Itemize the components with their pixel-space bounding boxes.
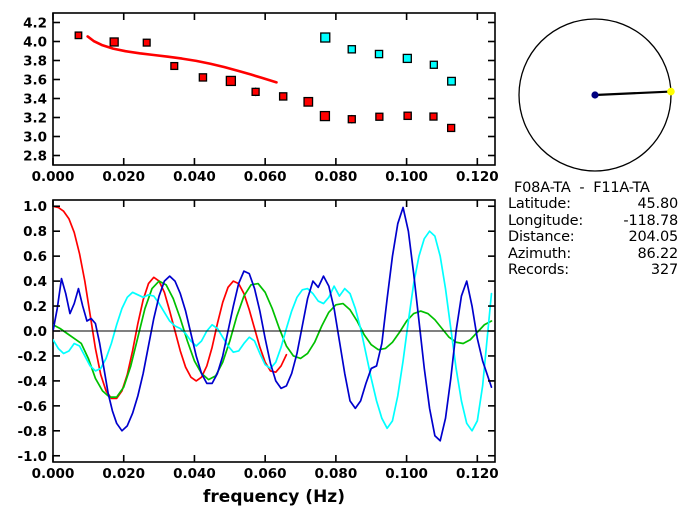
y-tick-label: 1.0 <box>23 199 47 215</box>
plot-area <box>75 32 455 131</box>
y-tick-label: -0.4 <box>17 374 47 390</box>
y-tick-label: 0.8 <box>23 224 47 240</box>
x-tick-label: 0.020 <box>102 169 145 185</box>
station-pair-label: F08A-TA - F11A-TA <box>508 180 698 196</box>
info-value: 86.22 <box>596 246 678 262</box>
data-point-marker <box>143 39 150 46</box>
data-point-marker <box>375 50 382 57</box>
cross-correlation-plot: 0.0000.0200.0400.0600.0800.1000.120-1.0-… <box>0 190 510 519</box>
y-tick-label: 2.8 <box>23 149 47 165</box>
info-value: 204.05 <box>596 229 678 245</box>
dispersion-plot: 0.0000.0200.0400.0600.0800.1000.1202.83.… <box>0 0 510 195</box>
series-red-branch <box>75 32 454 131</box>
paired-station-dot <box>667 88 675 96</box>
x-tick-label: 0.060 <box>244 169 287 185</box>
info-row: Azimuth:86.22 <box>508 246 698 262</box>
x-tick-label: 0.040 <box>173 169 216 185</box>
y-tick-label: 3.8 <box>23 54 47 70</box>
info-key: Latitude: <box>508 196 596 212</box>
data-point-marker <box>404 112 411 119</box>
x-tick-label: 0.100 <box>385 169 428 185</box>
data-point-marker <box>448 124 455 131</box>
data-point-marker <box>348 116 355 123</box>
info-row: Longitude:-118.78 <box>508 213 698 229</box>
y-tick-label: 3.0 <box>23 130 47 146</box>
data-point-marker <box>252 88 259 95</box>
info-row: Distance:204.05 <box>508 229 698 245</box>
y-tick-label: 0.4 <box>23 274 47 290</box>
series-cyan-branch <box>321 33 456 85</box>
info-key: Longitude: <box>508 213 596 229</box>
y-tick-label: 4.2 <box>23 16 47 32</box>
y-tick-label: 3.4 <box>23 92 47 108</box>
x-tick-label: 0.020 <box>102 466 145 482</box>
data-point-marker <box>430 113 437 120</box>
x-tick-label: 0.080 <box>315 169 358 185</box>
data-point-marker <box>280 93 287 100</box>
data-point-marker <box>348 46 355 53</box>
x-tick-label: 0.080 <box>315 466 358 482</box>
y-tick-label: 4.0 <box>23 35 47 51</box>
y-tick-label: -1.0 <box>17 449 47 465</box>
data-point-marker <box>75 32 82 39</box>
data-point-marker <box>304 98 313 107</box>
station-path <box>595 92 671 95</box>
info-row: Records:327 <box>508 262 698 278</box>
x-tick-label: 0.040 <box>173 466 216 482</box>
x-tick-label: 0.060 <box>244 466 287 482</box>
phase-velocity-dispersion-figure: 0.0000.0200.0400.0600.0800.1000.1202.83.… <box>0 0 700 519</box>
data-point-marker <box>321 33 330 42</box>
y-tick-label: -0.6 <box>17 399 47 415</box>
plot-area <box>53 206 491 441</box>
y-tick-label: -0.2 <box>17 349 47 365</box>
info-key: Azimuth: <box>508 246 596 262</box>
data-point-marker <box>448 77 456 85</box>
info-key: Records: <box>508 262 596 278</box>
info-key: Distance: <box>508 229 596 245</box>
station-info-panel: F08A-TA - F11A-TA Latitude:45.80Longitud… <box>508 180 698 278</box>
data-point-marker <box>376 113 383 120</box>
y-tick-label: 0.0 <box>23 324 47 340</box>
info-value: 45.80 <box>596 196 678 212</box>
y-tick-label: 0.2 <box>23 299 47 315</box>
y-tick-label: 0.6 <box>23 249 47 265</box>
info-value: 327 <box>596 262 678 278</box>
data-point-marker <box>320 112 329 121</box>
x-tick-label: 0.000 <box>32 466 75 482</box>
data-point-marker <box>110 38 118 46</box>
data-point-marker <box>430 61 437 68</box>
data-point-marker <box>199 74 206 81</box>
data-point-marker <box>403 54 411 62</box>
data-point-marker <box>171 63 178 70</box>
info-row: Latitude:45.80 <box>508 196 698 212</box>
reference-station-dot <box>591 91 598 98</box>
station-pair-map <box>505 8 695 188</box>
x-tick-label: 0.120 <box>456 466 499 482</box>
x-tick-label: 0.120 <box>456 169 499 185</box>
station-info-rows: Latitude:45.80Longitude:-118.78Distance:… <box>508 196 698 278</box>
y-tick-label: -0.8 <box>17 424 47 440</box>
series-red-trace <box>53 206 286 398</box>
info-value: -118.78 <box>596 213 678 229</box>
y-tick-label: 3.2 <box>23 111 47 127</box>
y-tick-label: 3.6 <box>23 73 47 89</box>
x-tick-label: 0.000 <box>32 169 75 185</box>
x-tick-label: 0.100 <box>385 466 428 482</box>
series-blue-trace <box>53 207 491 440</box>
data-point-marker <box>226 76 235 85</box>
x-axis-title: frequency (Hz) <box>203 487 345 507</box>
plot-frame <box>53 13 495 165</box>
